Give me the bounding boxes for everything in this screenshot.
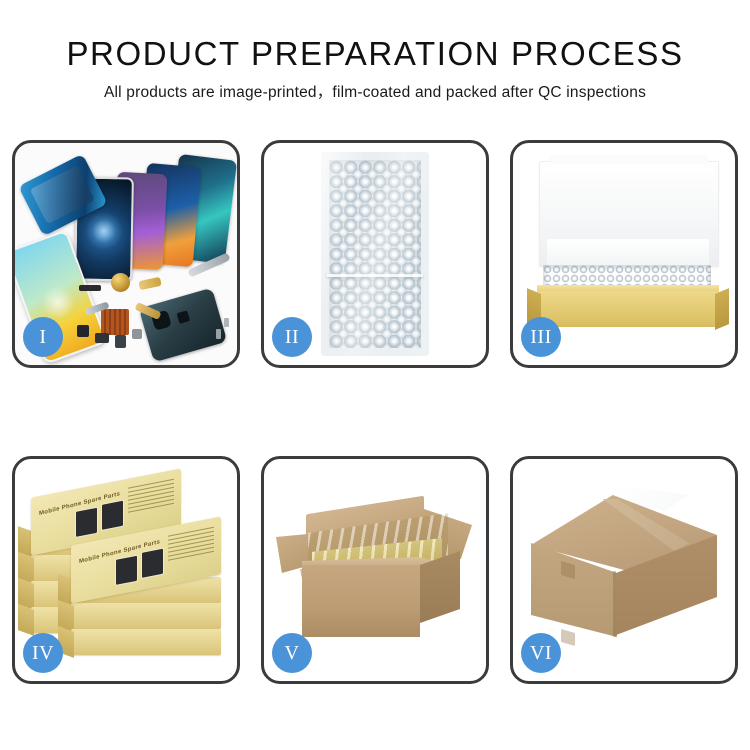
carton-corner-seam (613, 571, 616, 637)
inner-box-front-icon (537, 291, 719, 327)
phone-back-housing-icon (139, 288, 227, 363)
panel-step-5: V (261, 456, 489, 684)
panel-step-6: VI (510, 456, 738, 684)
box-artwork-spec-lines (128, 479, 174, 522)
connector-2-icon (95, 333, 109, 343)
box-artwork-screen-1 (75, 507, 98, 538)
box-artwork-screen-2 (101, 500, 124, 531)
panel-2-step-badge: II (272, 317, 312, 357)
retail-box-layer (71, 629, 221, 655)
carton-tab-lower (561, 629, 575, 646)
page-subtitle: All products are image-printed，film-coat… (0, 83, 750, 103)
flex-cable-1-icon (138, 277, 161, 290)
box-artwork-screen-1 (115, 555, 138, 586)
retail-box-layer (71, 603, 221, 629)
carton-front-face (302, 565, 420, 637)
chip-grid-icon (101, 309, 129, 335)
connector-3-icon (115, 335, 126, 348)
page-title: PRODUCT PREPARATION PROCESS (0, 34, 750, 74)
panel-4-step-badge: IV (23, 633, 63, 673)
screw-2-icon (224, 318, 229, 327)
bubble-wrap-pouch-icon (321, 152, 429, 356)
panel-3-step-badge: III (521, 317, 561, 357)
pouch-sheen (321, 152, 429, 356)
screw-1-icon (216, 329, 221, 339)
panel-step-1: I (12, 140, 240, 368)
box-artwork-screen-2 (141, 548, 164, 579)
panel-step-4: Mobile Phone Spare Parts Mobile Phone Sp… (12, 456, 240, 684)
panel-5-step-badge: V (272, 633, 312, 673)
panel-step-3: III (510, 140, 738, 368)
panel-step-2: II (261, 140, 489, 368)
box-artwork-spec-lines (168, 527, 214, 570)
charging-coil-icon (111, 273, 130, 292)
connector-4-icon (132, 329, 142, 339)
connector-1-icon (77, 325, 89, 337)
panel-1-step-badge: I (23, 317, 63, 357)
process-panel-grid: I II III (12, 140, 738, 684)
page-header: PRODUCT PREPARATION PROCESS All products… (0, 0, 750, 103)
speaker-bar-icon (79, 285, 101, 291)
panel-6-step-badge: VI (521, 633, 561, 673)
